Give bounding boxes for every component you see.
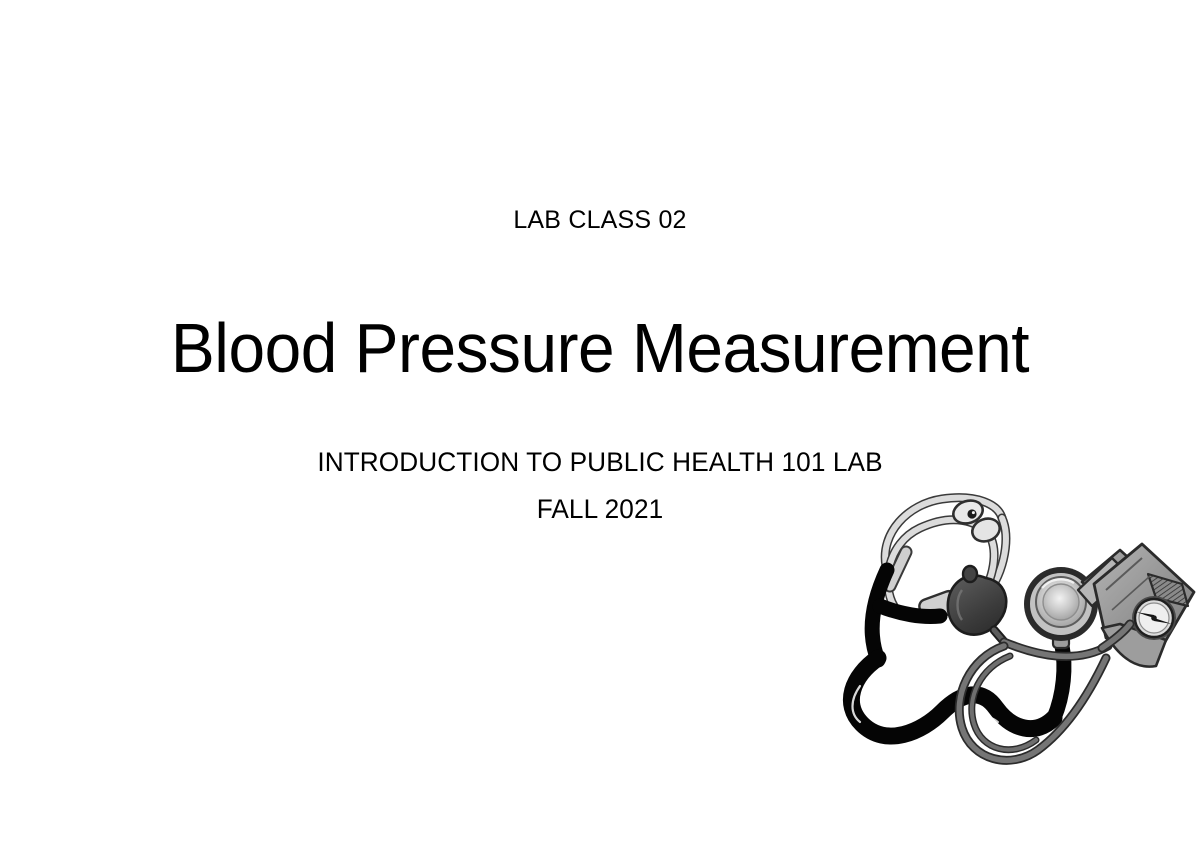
equipment-artwork [790, 478, 1200, 778]
title-slide: LAB CLASS 02 Blood Pressure Measurement … [0, 0, 1200, 848]
pressure-gauge-icon [1132, 596, 1176, 640]
slide-eyebrow-label: LAB CLASS 02 [0, 206, 1200, 235]
slide-title: Blood Pressure Measurement [36, 309, 1164, 387]
slide-subtitle-course: INTRODUCTION TO PUBLIC HEALTH 101 LAB [18, 447, 1182, 478]
blood-pressure-equipment-illustration [790, 478, 1200, 778]
